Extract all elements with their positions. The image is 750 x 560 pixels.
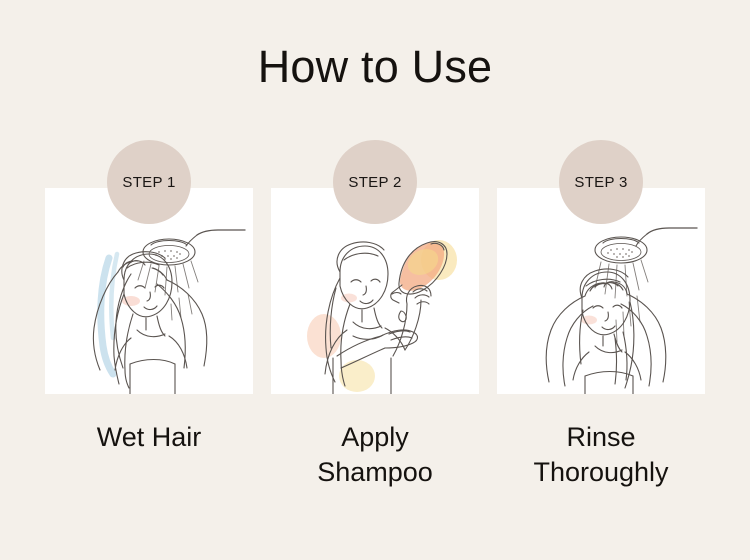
step-3-caption: Rinse Thoroughly — [533, 420, 668, 489]
step-card-3[interactable]: STEP 3 Rinse Thoroughly — [497, 188, 705, 489]
step-1-badge-label: STEP 1 — [122, 174, 175, 191]
step-card-1[interactable]: STEP 1 Wet Hair — [45, 188, 253, 489]
step-card-2[interactable]: STEP 2 Apply Shampoo — [271, 188, 479, 489]
step-2-badge: STEP 2 — [333, 140, 417, 224]
step-2-caption: Apply Shampoo — [317, 420, 433, 489]
step-1-caption: Wet Hair — [97, 420, 202, 455]
steps-row: STEP 1 Wet Hair — [45, 188, 705, 489]
how-to-use-infographic: How to Use — [0, 0, 750, 560]
step-3-badge: STEP 3 — [559, 140, 643, 224]
step-2-badge-label: STEP 2 — [348, 174, 401, 191]
page-title: How to Use — [0, 42, 750, 92]
step-1-badge: STEP 1 — [107, 140, 191, 224]
step-3-badge-label: STEP 3 — [574, 174, 627, 191]
